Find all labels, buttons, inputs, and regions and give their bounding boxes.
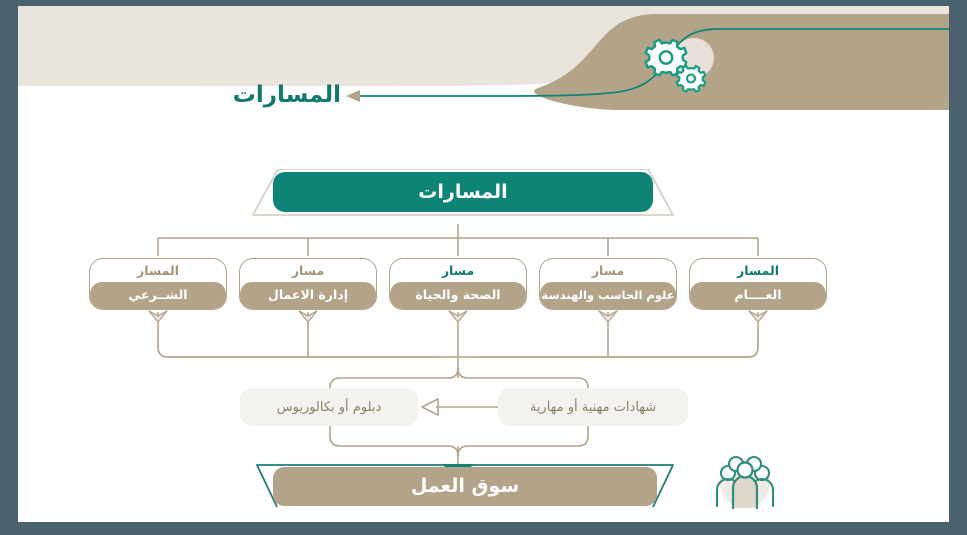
track-bottom-label: الشــرعي <box>90 282 226 309</box>
qualification-chip-degree[interactable]: دبلوم أو بكالوريوس <box>240 388 418 426</box>
tracks-row: المسار الشــرعي مسار إدارة الاعمال مسار … <box>18 258 949 314</box>
connector-split-right <box>458 368 588 388</box>
people-group-icon <box>708 450 782 514</box>
connector-split-left <box>330 368 458 388</box>
main-chip-label: المسارات <box>418 183 507 202</box>
connector-merge-left <box>330 426 458 456</box>
main-chip-fill: المسارات <box>273 172 653 212</box>
slide-frame: المسارات <box>0 0 967 535</box>
slide-canvas: المسارات <box>18 6 949 522</box>
track-top-label: مسار <box>540 259 676 282</box>
connector-down-1 <box>158 322 438 357</box>
track-top-label: المسار <box>90 259 226 282</box>
track-chip-business[interactable]: مسار إدارة الاعمال <box>239 258 377 310</box>
track-top-label: مسار <box>240 259 376 282</box>
track-top-label: المسار <box>690 259 826 282</box>
track-top-label: مسار <box>390 259 526 282</box>
main-title-chip: المسارات <box>248 169 678 224</box>
market-chip-fill: سوق العمل <box>273 467 657 506</box>
track-bottom-label: الصحة والحياة <box>390 282 526 309</box>
track-bottom-label: علوم الحاسب والهندسة <box>540 282 676 309</box>
pathways-diagram: المسارات المسار الشــرعي مسار إدارة الاع… <box>18 6 949 522</box>
labor-market-chip: سوق العمل <box>255 461 675 511</box>
track-chip-shariah[interactable]: المسار الشــرعي <box>89 258 227 310</box>
connector-merge-right <box>458 426 588 456</box>
connector-down-5 <box>478 322 758 357</box>
arrow-left-icon <box>422 399 438 415</box>
track-chip-general[interactable]: المسار العــــام <box>689 258 827 310</box>
qualification-chip-certificates[interactable]: شهادات مهنية أو مهارية <box>498 388 688 426</box>
market-chip-label: سوق العمل <box>411 477 519 496</box>
track-bottom-label: إدارة الاعمال <box>240 282 376 309</box>
track-chip-health-life[interactable]: مسار الصحة والحياة <box>389 258 527 310</box>
track-bottom-label: العــــام <box>690 282 826 309</box>
track-chip-cs-engineering[interactable]: مسار علوم الحاسب والهندسة <box>539 258 677 310</box>
